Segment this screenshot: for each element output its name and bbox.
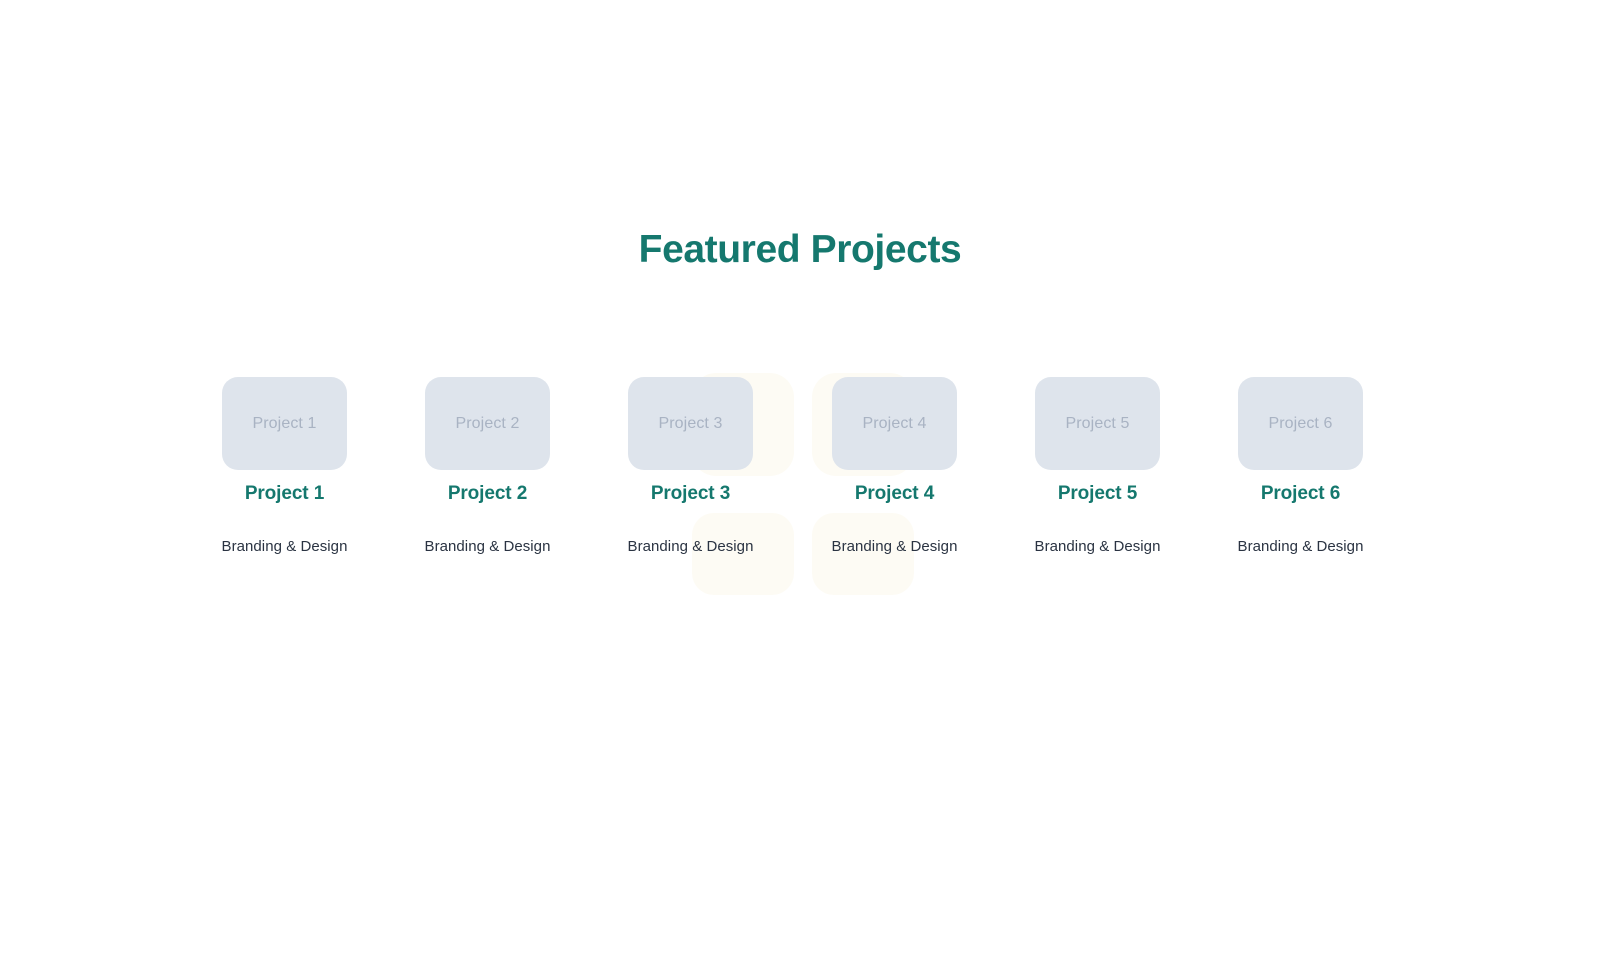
project-name[interactable]: Project 5: [1035, 483, 1160, 505]
project-thumbnail[interactable]: Project 2: [425, 377, 550, 470]
project-name[interactable]: Project 3: [628, 483, 753, 505]
page-root: Featured Projects Project 1 Project 1 Br…: [0, 0, 1600, 978]
project-category: Branding & Design: [1218, 538, 1383, 555]
project-name[interactable]: Project 4: [832, 483, 957, 505]
project-thumbnail-label: Project 1: [252, 415, 316, 433]
project-card[interactable]: Project 2 Project 2 Branding & Design: [425, 373, 550, 603]
project-thumbnail-label: Project 2: [455, 415, 519, 433]
project-thumbnail-label: Project 4: [862, 415, 926, 433]
project-name[interactable]: Project 2: [425, 483, 550, 505]
featured-projects-grid: Project 1 Project 1 Branding & Design Pr…: [222, 373, 1378, 603]
project-thumbnail-label: Project 5: [1065, 415, 1129, 433]
project-thumbnail-label: Project 3: [658, 415, 722, 433]
project-thumbnail[interactable]: Project 4: [832, 377, 957, 470]
project-category: Branding & Design: [202, 538, 367, 555]
project-card[interactable]: Project 1 Project 1 Branding & Design: [222, 373, 347, 603]
project-thumbnail[interactable]: Project 6: [1238, 377, 1363, 470]
project-category: Branding & Design: [405, 538, 570, 555]
project-category: Branding & Design: [608, 538, 773, 555]
project-category: Branding & Design: [812, 538, 977, 555]
project-card[interactable]: Project 5 Project 5 Branding & Design: [1035, 373, 1160, 603]
project-name[interactable]: Project 1: [222, 483, 347, 505]
project-thumbnail[interactable]: Project 3: [628, 377, 753, 470]
project-card[interactable]: Project 4 Project 4 Branding & Design: [832, 373, 957, 603]
project-card[interactable]: Project 6 Project 6 Branding & Design: [1238, 373, 1363, 603]
project-thumbnail-label: Project 6: [1268, 415, 1332, 433]
project-card[interactable]: Project 3 Project 3 Branding & Design: [628, 373, 753, 603]
project-thumbnail[interactable]: Project 1: [222, 377, 347, 470]
project-name[interactable]: Project 6: [1238, 483, 1363, 505]
project-thumbnail[interactable]: Project 5: [1035, 377, 1160, 470]
page-title: Featured Projects: [0, 228, 1600, 273]
project-category: Branding & Design: [1015, 538, 1180, 555]
